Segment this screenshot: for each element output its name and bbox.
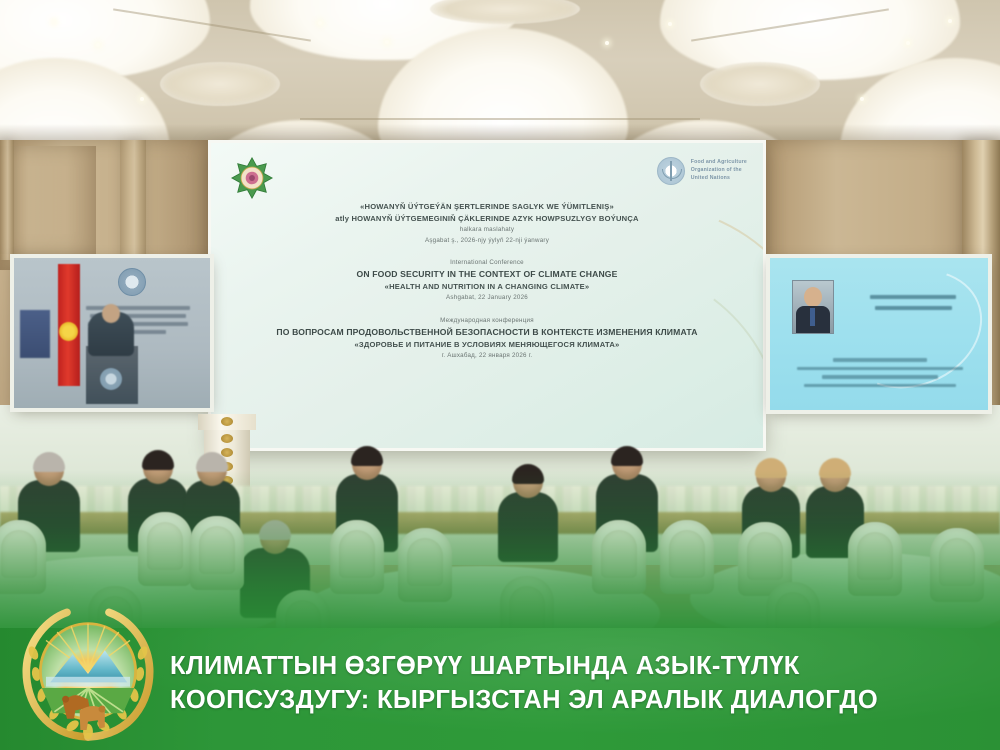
speaker-portrait — [792, 280, 834, 334]
russian-title-2: «ЗДОРОВЬЕ И ПИТАНИЕ В УСЛОВИЯХ МЕНЯЮЩЕГО… — [211, 339, 763, 351]
fao-logo: Food and Agriculture Organization of the… — [657, 157, 747, 185]
caption-text: КЛИМАТТЫН ӨЗГӨРҮҮ ШАРТЫНДА АЗЫК-ТҮЛҮК КО… — [170, 650, 990, 717]
kyrgyzstan-flag — [58, 264, 80, 386]
ornate-ceiling — [0, 0, 1000, 150]
right-projection-screen — [770, 258, 988, 410]
english-title-1: ON FOOD SECURITY IN THE CONTEXT OF CLIMA… — [211, 268, 763, 281]
side-monitor — [20, 310, 50, 358]
russian-title-1: ПО ВОПРОСАМ ПРОДОВОЛЬСТВЕННОЙ БЕЗОПАСНОС… — [211, 326, 763, 339]
lower-third-caption-bar: КЛИМАТТЫН ӨЗГӨРҮҮ ШАРТЫНДА АЗЫК-ТҮЛҮК КО… — [0, 628, 1000, 750]
speaker-name-lines — [858, 288, 968, 317]
broadcast-frame: Food and Agriculture Organization of the… — [0, 0, 1000, 750]
caption-line-1: КЛИМАТТЫН ӨЗГӨРҮҮ ШАРТЫНДА АЗЫК-ТҮЛҮК — [170, 650, 990, 684]
english-title-2: «HEALTH AND NUTRITION IN A CHANGING CLIM… — [211, 281, 763, 293]
left-projection-screen — [14, 258, 210, 408]
caption-line-2: КООПСУЗДУГУ: КЫРГЫЗСТАН ЭЛ АРАЛЫК ДИАЛОГ… — [170, 684, 990, 718]
turkmen-place-date: Aşgabat ş., 2026-njy ýylyň 22-nji ýanwar… — [211, 236, 763, 246]
russian-place-date: г. Ашхабад, 22 января 2026 г. — [211, 351, 763, 361]
english-place-date: Ashgabat, 22 January 2026 — [211, 293, 763, 303]
podium-top — [198, 414, 256, 430]
screen-text-block: «HOWANYŇ ÜÝTGEÝÄN ŞERTLERINDE SAGLYK WE … — [211, 201, 763, 374]
russian-block: Международная конференция ПО ВОПРОСАМ ПР… — [211, 316, 763, 362]
speaker-head — [102, 304, 120, 323]
english-kicker: International Conference — [211, 258, 763, 268]
speaker-title-lines — [790, 353, 970, 392]
institution-logo-icon — [118, 268, 146, 296]
english-block: International Conference ON FOOD SECURIT… — [211, 258, 763, 304]
turkmen-block: «HOWANYŇ ÜÝTGEÝÄN ŞERTLERINDE SAGLYK WE … — [211, 201, 763, 246]
fao-line-3: United Nations — [691, 175, 747, 183]
turkmen-subtitle: halkara maslahaty — [211, 225, 763, 235]
turkmen-title-1: «HOWANYŇ ÜÝTGEÝÄN ŞERTLERINDE SAGLYK WE … — [211, 201, 763, 213]
russian-kicker: Международная конференция — [211, 316, 763, 326]
kyrgyzstan-agriculture-emblem — [18, 604, 158, 744]
portrait-head — [804, 287, 822, 307]
fao-line-1: Food and Agriculture — [691, 159, 747, 167]
fao-line-2: Organization of the — [691, 167, 747, 175]
fao-emblem-icon — [657, 157, 685, 185]
turkmen-title-2: atly HOWANYŇ ÜÝTGEMEGINIŇ ÇÄKLERINDE AZY… — [211, 213, 763, 225]
main-projection-screen: Food and Agriculture Organization of the… — [211, 143, 763, 448]
fao-logo-text: Food and Agriculture Organization of the… — [691, 159, 747, 182]
turkmenistan-star-emblem — [231, 157, 273, 199]
portrait-tie — [810, 308, 815, 326]
